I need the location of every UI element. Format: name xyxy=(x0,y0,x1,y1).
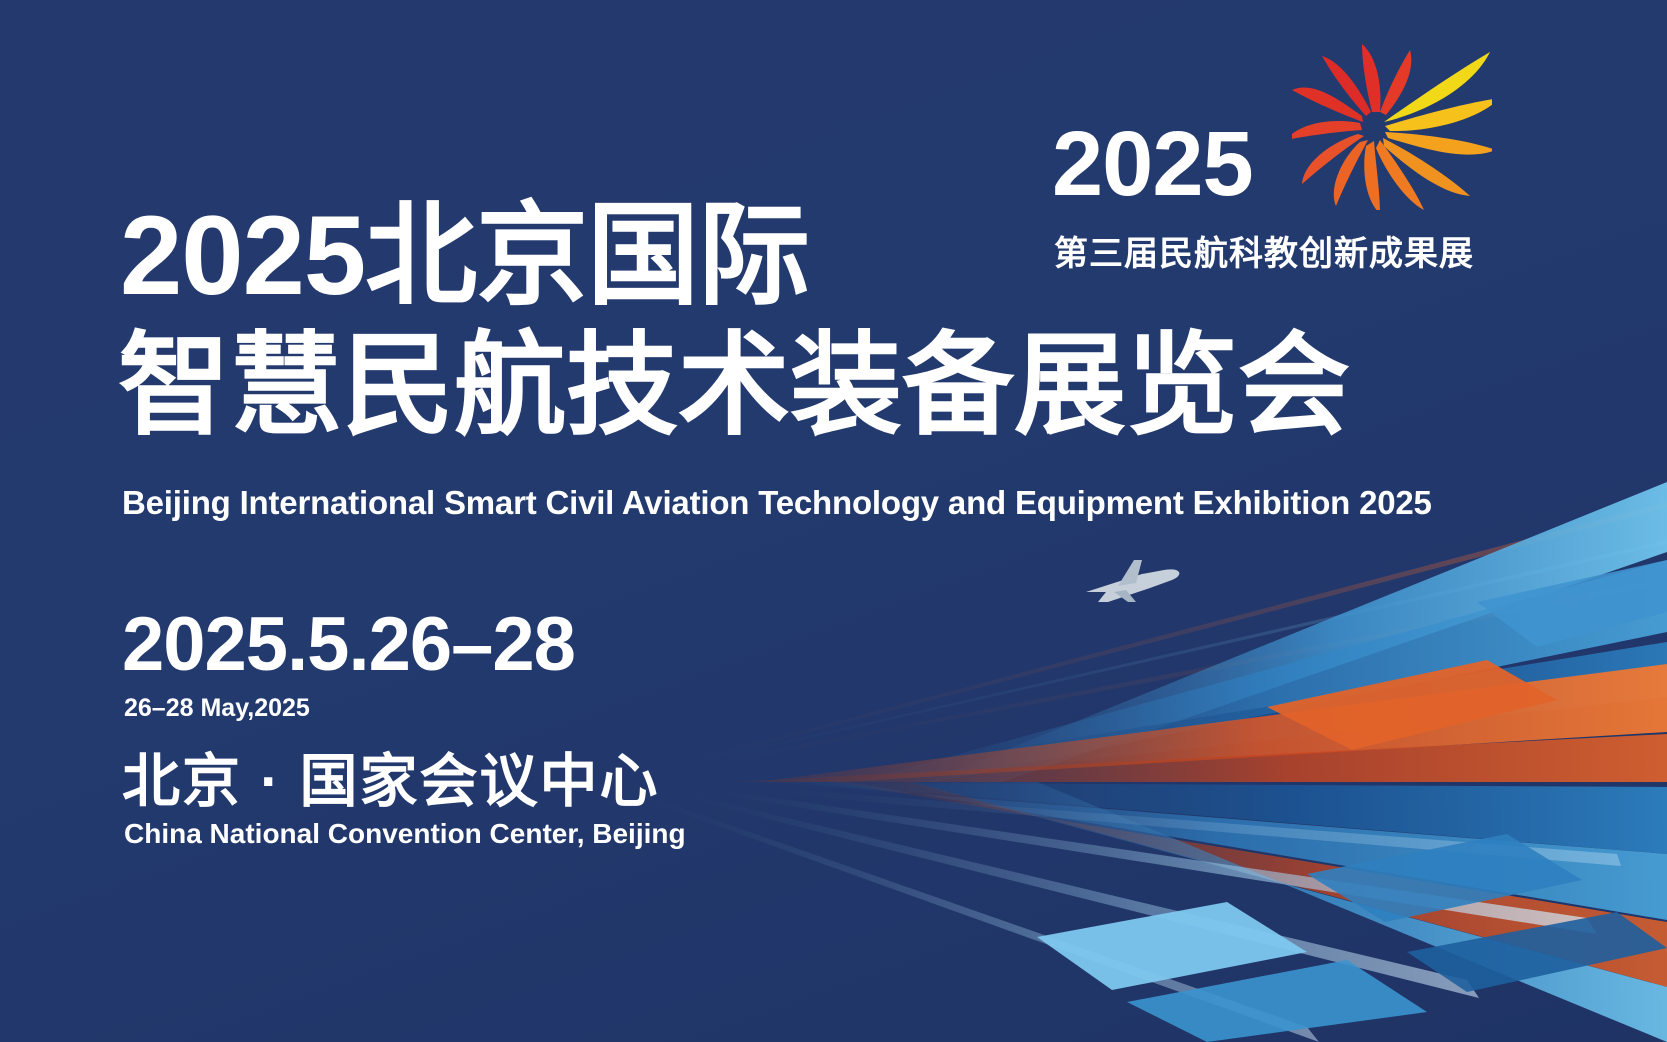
event-venue-english: China National Convention Center, Beijin… xyxy=(124,818,686,850)
logo-subtitle: 第三届民航科教创新成果展 xyxy=(1054,226,1474,275)
event-date: 2025.5.26–28 xyxy=(122,607,575,683)
event-date-english: 26–28 May,2025 xyxy=(124,694,310,723)
sunburst-flower-logo-icon xyxy=(1292,40,1492,210)
event-logo: 2025 xyxy=(1052,40,1492,250)
title-english: Beijing International Smart Civil Aviati… xyxy=(122,484,1432,522)
exhibition-poster: 2025 xyxy=(0,0,1667,1042)
airplane-silhouette xyxy=(1080,552,1190,612)
title-line-1: 2025北京国际 xyxy=(120,196,809,317)
logo-year: 2025 xyxy=(1052,118,1253,210)
event-venue: 北京 · 国家会议中心 xyxy=(122,750,660,814)
title-line-2: 智慧民航技术装备展览会 xyxy=(118,326,1350,447)
